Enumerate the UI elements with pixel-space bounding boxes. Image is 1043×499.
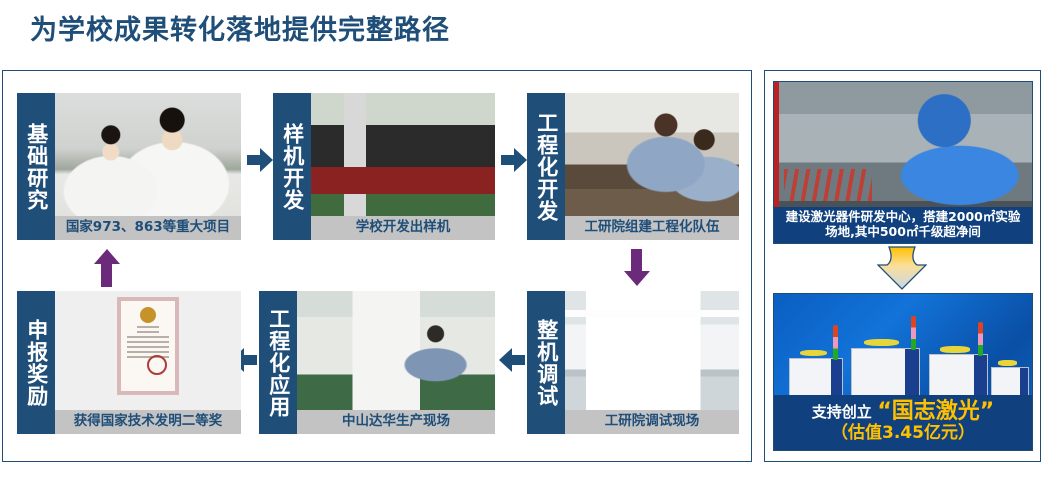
step-caption-engineering-dev: 工研院组建工程化队伍 xyxy=(565,216,739,241)
certificate-photo xyxy=(55,291,241,410)
step-caption-basic-research: 国家973、863等重大项目 xyxy=(55,216,241,241)
certificate-graphic xyxy=(117,297,179,395)
arrow-debug-to-application xyxy=(499,348,525,372)
production-floor-photo xyxy=(297,291,495,410)
assembly-line-photo xyxy=(565,291,739,410)
outcome-caption-highlight: “国志激光” xyxy=(877,399,994,424)
outcome-card-rnd-center[interactable]: 建设激光器件研发中心，搭建2000㎡实验 场地,其中500㎡千级超净间 xyxy=(773,81,1033,244)
arrow-award-to-basic xyxy=(94,249,120,287)
step-body-prototype-dev: 学校开发出样机 xyxy=(311,93,495,240)
engineering-bench-photo xyxy=(565,93,739,216)
step-label-award-application: 申报奖励 xyxy=(17,291,55,434)
outcome-caption-prefix: 支持创立 xyxy=(812,403,872,421)
step-caption-prototype-dev: 学校开发出样机 xyxy=(311,216,495,241)
outcome-caption-line1: 建设激光器件研发中心，搭建2000㎡实验 xyxy=(776,210,1030,224)
arrow-eng-to-debug xyxy=(624,249,650,287)
process-flow-panel: 基础研究 国家973、863等重大项目 样机开发 学校开发出样机 工程化开发 工… xyxy=(2,70,752,462)
step-card-award-application[interactable]: 申报奖励 获得国家技术发明二等奖 xyxy=(17,291,241,434)
step-body-engineering-application: 中山达华生产现场 xyxy=(297,291,495,434)
outcome-panel: 建设激光器件研发中心，搭建2000㎡实验 场地,其中500㎡千级超净间 xyxy=(764,70,1041,462)
step-card-engineering-dev[interactable]: 工程化开发 工研院组建工程化队伍 xyxy=(527,93,739,240)
lab-researchers-photo xyxy=(55,93,241,216)
step-card-basic-research[interactable]: 基础研究 国家973、863等重大项目 xyxy=(17,93,241,240)
step-caption-award-application: 获得国家技术发明二等奖 xyxy=(55,410,241,435)
step-card-engineering-application[interactable]: 工程化应用 中山达华生产现场 xyxy=(259,291,495,434)
step-label-prototype-dev: 样机开发 xyxy=(273,93,311,240)
arrow-prototype-to-eng xyxy=(501,148,527,172)
step-caption-machine-debug: 工研院调试现场 xyxy=(565,410,739,435)
step-card-prototype-dev[interactable]: 样机开发 学校开发出样机 xyxy=(273,93,495,240)
outcome-card-guozhi-laser[interactable]: 支持创立 “国志激光” （估值3.45亿元） xyxy=(773,293,1033,451)
outcome-caption-guozhi-laser: 支持创立 “国志激光” （估值3.45亿元） xyxy=(774,395,1032,450)
page-title: 为学校成果转化落地提供完整路径 xyxy=(30,8,450,47)
step-body-award-application: 获得国家技术发明二等奖 xyxy=(55,291,241,434)
outcome-caption-valuation: （估值3.45亿元） xyxy=(776,424,1030,444)
step-body-engineering-dev: 工研院组建工程化队伍 xyxy=(565,93,739,240)
step-body-machine-debug: 工研院调试现场 xyxy=(565,291,739,434)
step-label-engineering-dev: 工程化开发 xyxy=(527,93,565,240)
outcome-caption-line2: 场地,其中500㎡千级超净间 xyxy=(776,225,1030,239)
step-label-machine-debug: 整机调试 xyxy=(527,291,565,434)
gradient-down-arrow xyxy=(877,246,927,290)
step-label-basic-research: 基础研究 xyxy=(17,93,55,240)
prototype-machine-photo xyxy=(311,93,495,216)
outcome-caption-rnd-center: 建设激光器件研发中心，搭建2000㎡实验 场地,其中500㎡千级超净间 xyxy=(774,207,1032,243)
step-body-basic-research: 国家973、863等重大项目 xyxy=(55,93,241,240)
step-label-engineering-application: 工程化应用 xyxy=(259,291,297,434)
arrow-basic-to-prototype xyxy=(247,148,273,172)
step-card-machine-debug[interactable]: 整机调试 工研院调试现场 xyxy=(527,291,739,434)
step-caption-engineering-application: 中山达华生产现场 xyxy=(297,410,495,435)
